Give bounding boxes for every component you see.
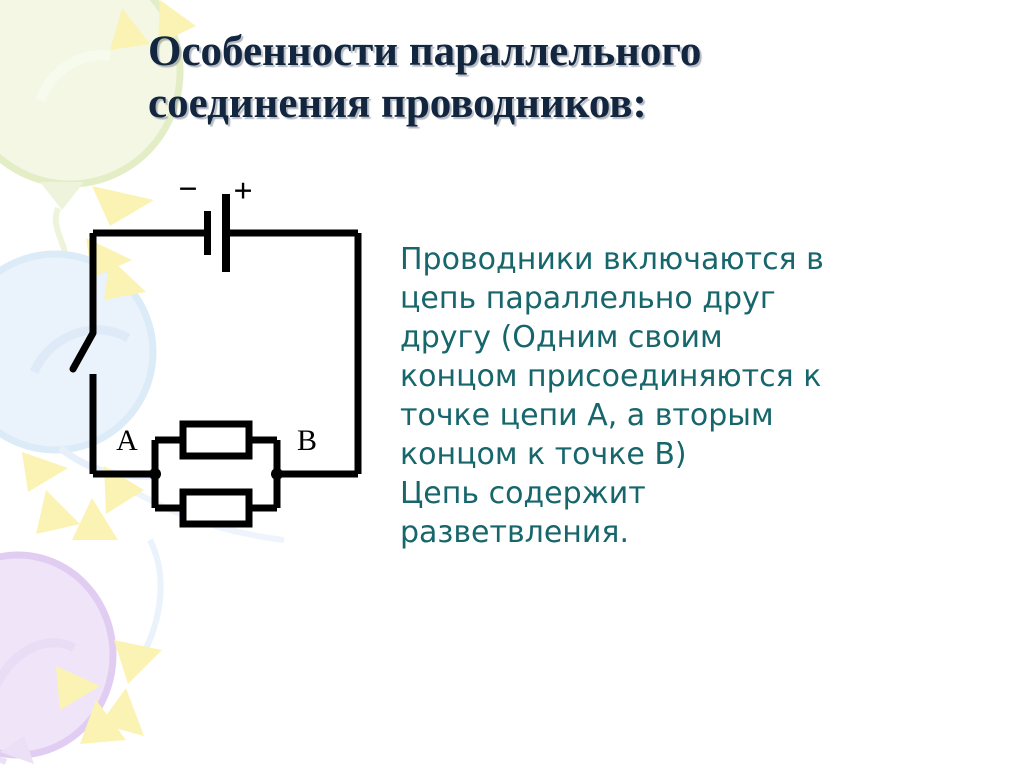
slide-canvas: Особенности параллельного соединения про… (0, 0, 1024, 767)
node-dot-b (271, 468, 283, 480)
title-line-2: соединения проводников: (148, 78, 908, 130)
battery-negative-label: − (178, 178, 197, 208)
battery-positive-label: + (233, 178, 252, 210)
node-dot-a (149, 468, 161, 480)
body-line-7: Цепь содержит (400, 474, 990, 513)
balloon-purple-icon (0, 555, 113, 767)
body-line-2: цепь параллельно друг (400, 279, 990, 318)
body-text: Проводники включаются в цепь параллельно… (400, 240, 990, 552)
node-label-b: В (297, 424, 317, 457)
resistor-upper (183, 424, 249, 456)
body-line-8: разветвления. (400, 513, 990, 552)
battery-positive-plate (222, 194, 230, 272)
battery-negative-plate (204, 211, 211, 255)
body-line-1: Проводники включаются в (400, 240, 990, 279)
title-line-1: Особенности параллельного (148, 26, 908, 78)
battery-symbol (204, 194, 230, 272)
slide-title: Особенности параллельного соединения про… (148, 26, 908, 130)
body-line-3: другу (Одним своим (400, 318, 990, 357)
body-line-6: концом к точке В) (400, 435, 990, 474)
switch-blade (73, 333, 93, 369)
body-line-4: концом присоединяются к (400, 357, 990, 396)
resistor-lower (183, 492, 249, 524)
node-label-a: А (116, 424, 138, 457)
decor-wisp (134, 540, 161, 670)
circuit-diagram: − + А В (55, 178, 395, 538)
body-line-5: точке цепи А, а вторым (400, 396, 990, 435)
